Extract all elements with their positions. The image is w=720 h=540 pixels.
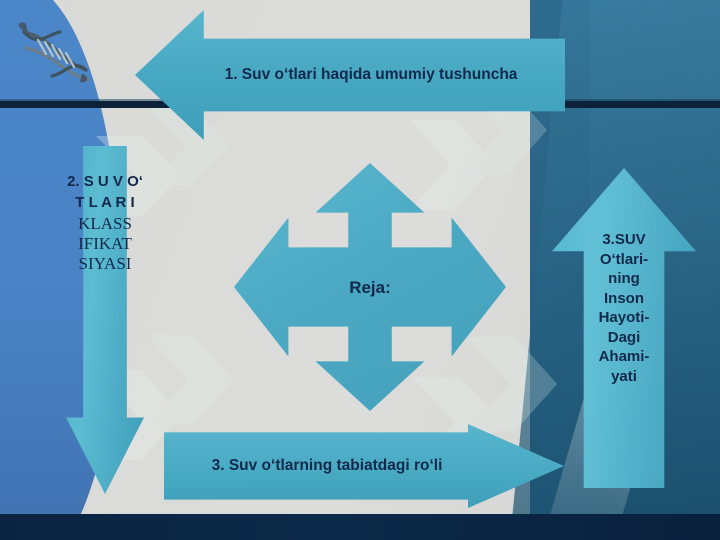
arrow-topic-1[interactable]: 1. Suv o‘tlari haqida umumiy tushuncha — [135, 10, 565, 140]
arrow-topic-2-serif-label: KLASS IFIKAT SIYASI — [66, 214, 144, 274]
presentation-slide: 1. Suv o‘tlari haqida umumiy tushuncha 2… — [0, 0, 720, 540]
arrow-topic-1-label: 1. Suv o‘tlari haqida umumiy tushuncha — [225, 66, 518, 84]
arrow-topic-4-label: 3. Suv o‘tlarning tabiatdagi ro‘li — [212, 457, 443, 475]
arrow-topic-2-vertical-label: 2. S U V O‘ T L A R I — [66, 146, 144, 213]
arrow-topic-3[interactable]: 3.SUV O‘tlari- ning Inson Hayoti- Dagi A… — [552, 168, 696, 488]
center-four-way-arrow[interactable]: Reja: — [234, 163, 506, 411]
arrow-topic-2[interactable]: 2. S U V O‘ T L A R I KLASS IFIKAT SIYAS… — [66, 146, 144, 494]
center-label: Reja: — [349, 278, 391, 298]
dna-helix-icon — [8, 14, 104, 100]
footer-band — [0, 514, 720, 540]
arrow-topic-3-label: 3.SUV O‘tlari- ning Inson Hayoti- Dagi A… — [552, 168, 696, 386]
arrow-topic-4[interactable]: 3. Suv o‘tlarning tabiatdagi ro‘li — [164, 424, 564, 508]
